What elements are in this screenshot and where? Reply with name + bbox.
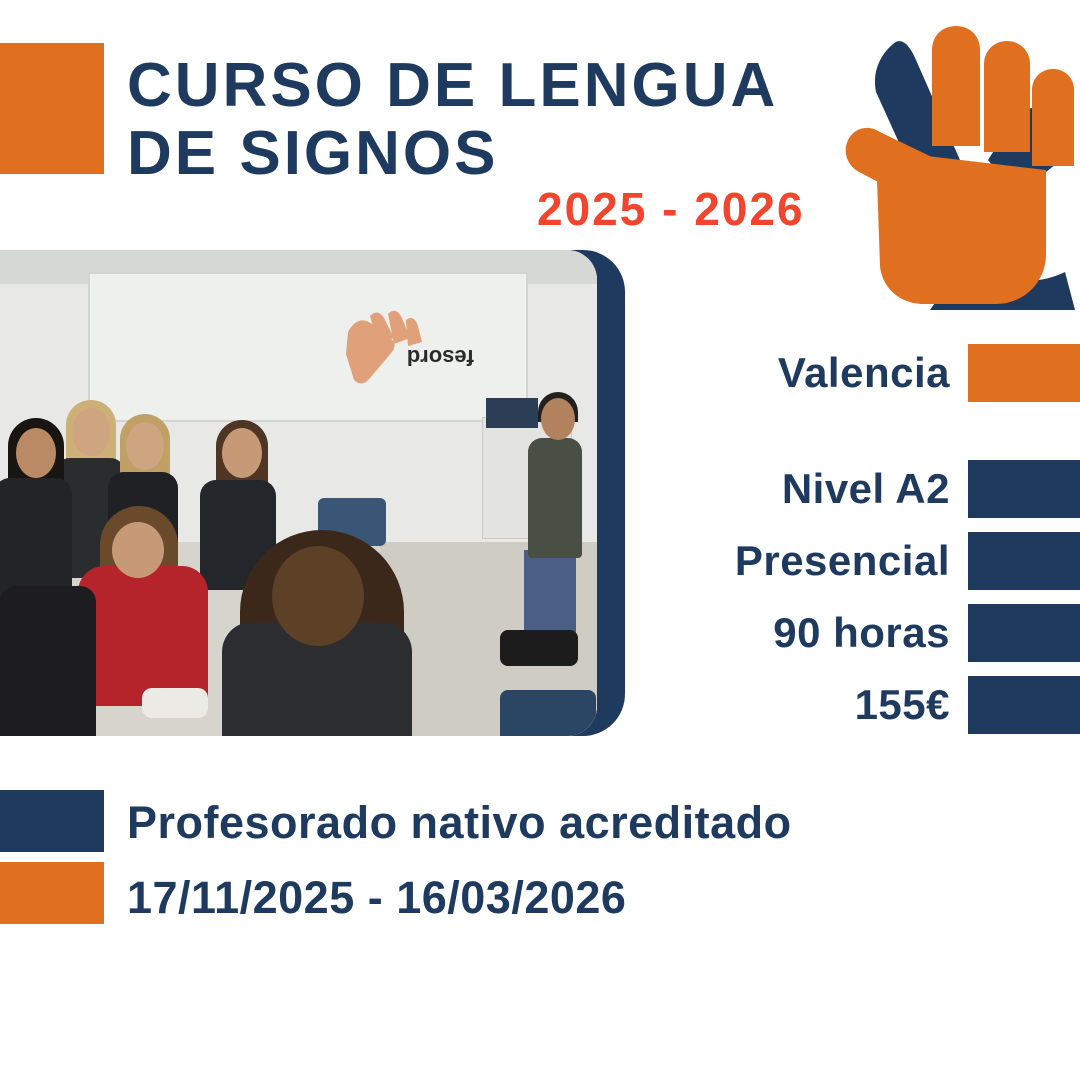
dates-line: 17/11/2025 - 16/03/2026 [127, 872, 626, 924]
title-line-2: DE SIGNOS [127, 120, 847, 188]
detail-chip-level [968, 460, 1080, 518]
detail-row-modality: Presencial [640, 532, 1080, 590]
detail-chip-hours [968, 604, 1080, 662]
detail-chip-price [968, 676, 1080, 734]
decor-block-orange-top-left [0, 43, 104, 174]
svg-text:fesord: fesord [407, 345, 474, 370]
decor-block-navy-bottom-left [0, 790, 104, 852]
detail-row-price: 155€ [640, 676, 1080, 734]
detail-chip-modality [968, 532, 1080, 590]
detail-label-price: 155€ [855, 681, 968, 729]
hand-logo-icon [820, 20, 1075, 310]
detail-label-hours: 90 horas [773, 609, 968, 657]
detail-label-level: Nivel A2 [782, 465, 968, 513]
detail-label-modality: Presencial [735, 537, 968, 585]
title-block: CURSO DE LENGUA DE SIGNOS [127, 52, 847, 188]
screen-fesord-logo-icon: fesord [330, 308, 490, 388]
classroom-photo: fesord [0, 250, 597, 736]
footer-logos: fesord CONFEDERACIÓN ESTATAL DE PERSONAS… [0, 960, 1080, 1080]
photo-frame: fesord [0, 250, 625, 736]
year-range: 2025 - 2026 [537, 182, 805, 236]
poster-canvas: CURSO DE LENGUA DE SIGNOS 2025 - 2026 [0, 0, 1080, 1080]
title-line-1: CURSO DE LENGUA [127, 52, 847, 120]
detail-label-location: Valencia [778, 349, 968, 397]
decor-block-orange-bottom-left [0, 862, 104, 924]
detail-row-location: Valencia [640, 344, 1080, 402]
detail-row-hours: 90 horas [640, 604, 1080, 662]
detail-chip-location [968, 344, 1080, 402]
detail-row-level: Nivel A2 [640, 460, 1080, 518]
teachers-line: Profesorado nativo acreditado [127, 797, 792, 849]
